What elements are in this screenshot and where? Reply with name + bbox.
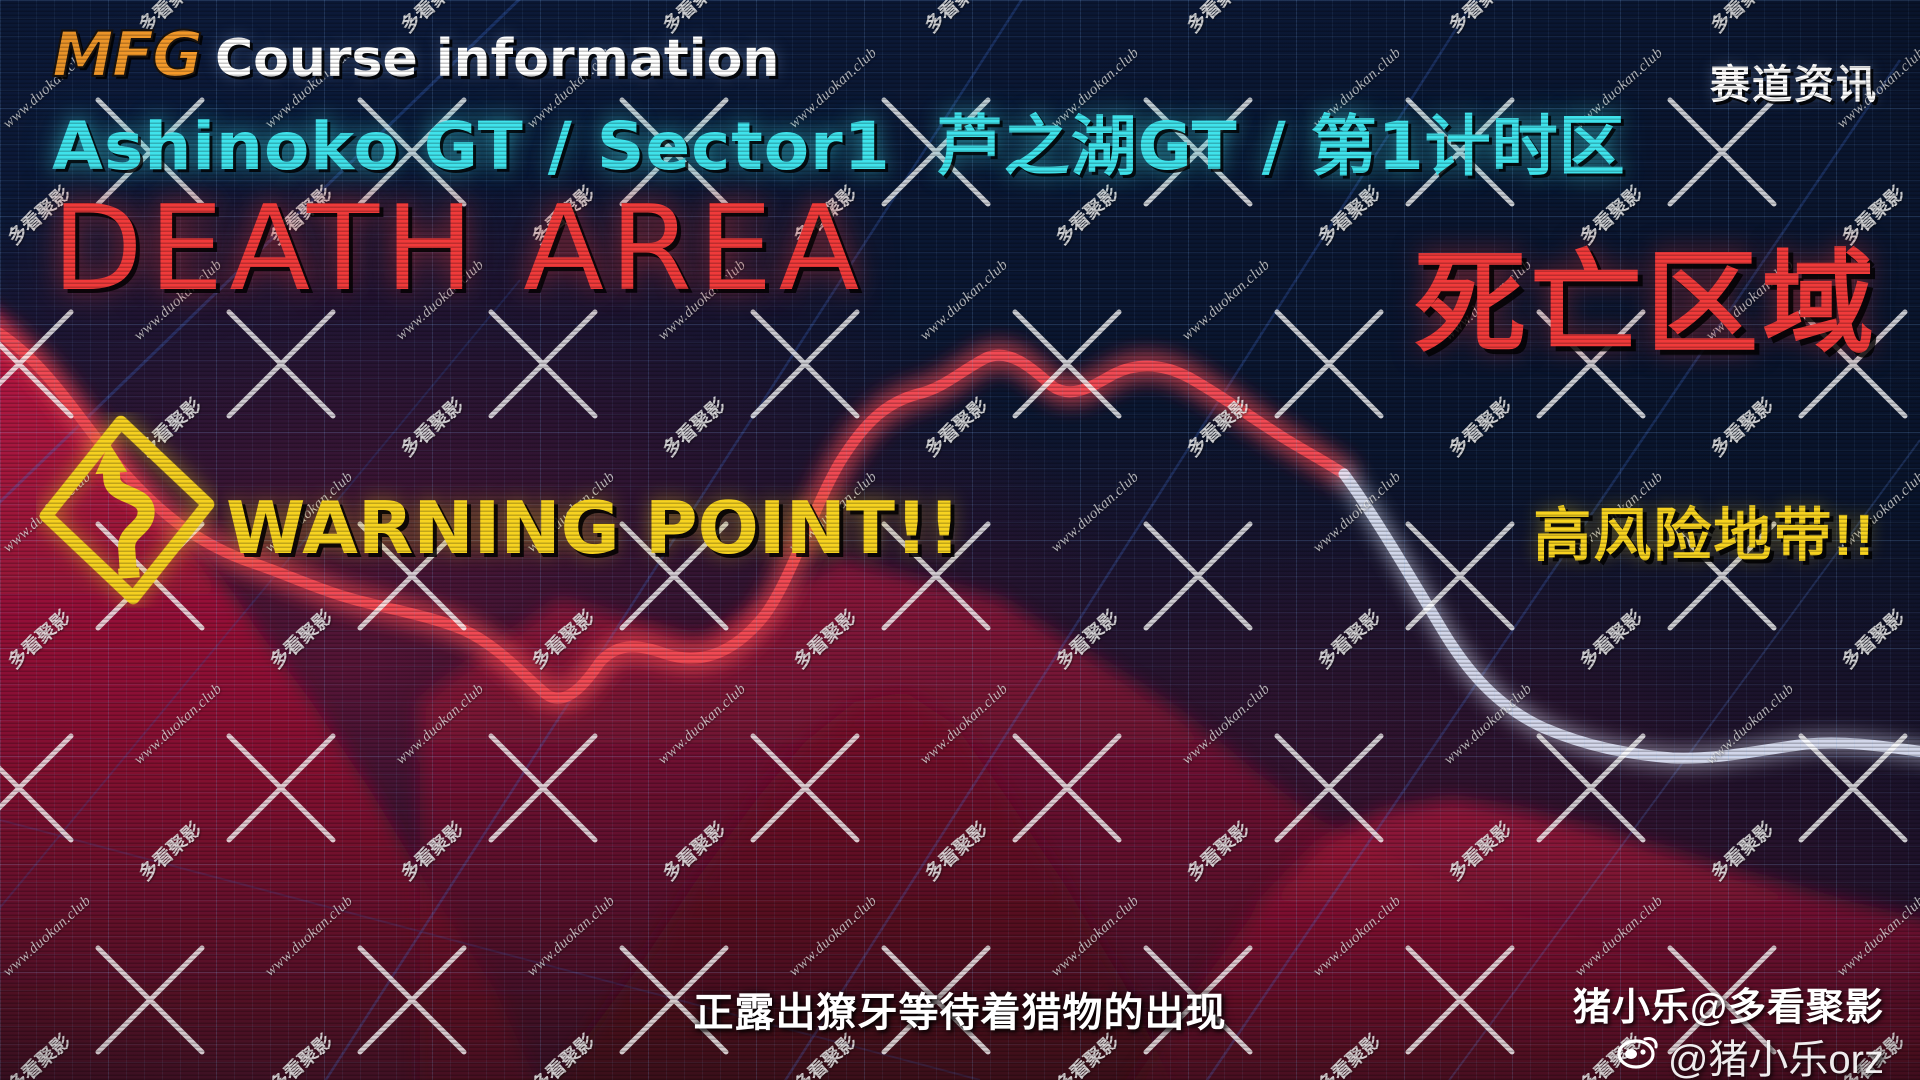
header-block: MFG Course information Ashinoko GT / Sec… [52, 26, 1626, 311]
track-news-label-cn: 赛道资讯 [1710, 52, 1878, 110]
mfg-logo: MFG [52, 26, 201, 85]
course-information-overlay: www.duokan.club多看聚影www.duokan.club多看聚影ww… [0, 0, 1920, 1080]
course-information-label: Course information [215, 29, 779, 89]
warning-point-label: WARNING POINT!! [226, 486, 961, 570]
weibo-icon [1616, 1032, 1660, 1080]
track-name-en: Ashinoko GT / Sector1 [52, 108, 891, 185]
header-row-brand: MFG Course information [52, 26, 1626, 89]
track-name-cn: 芦之湖GT / 第1计时区 [937, 108, 1626, 185]
credit-signature: 猪小乐@多看聚影 @猪小乐orz [1573, 976, 1884, 1080]
death-area-banner-en: DEATH AREA [52, 187, 1626, 311]
credit-handle-line: @猪小乐orz [1573, 1027, 1884, 1080]
winding-road-sign-icon [36, 412, 218, 608]
high-risk-zone-label-cn: 高风险地带!! [1533, 488, 1876, 572]
track-name-row: Ashinoko GT / Sector1 芦之湖GT / 第1计时区 [52, 93, 1626, 189]
credit-author-line: 猪小乐@多看聚影 [1573, 976, 1884, 1031]
death-area-banner-cn: 死亡区域 [1414, 248, 1878, 360]
credit-handle-text: @猪小乐orz [1668, 1027, 1884, 1080]
